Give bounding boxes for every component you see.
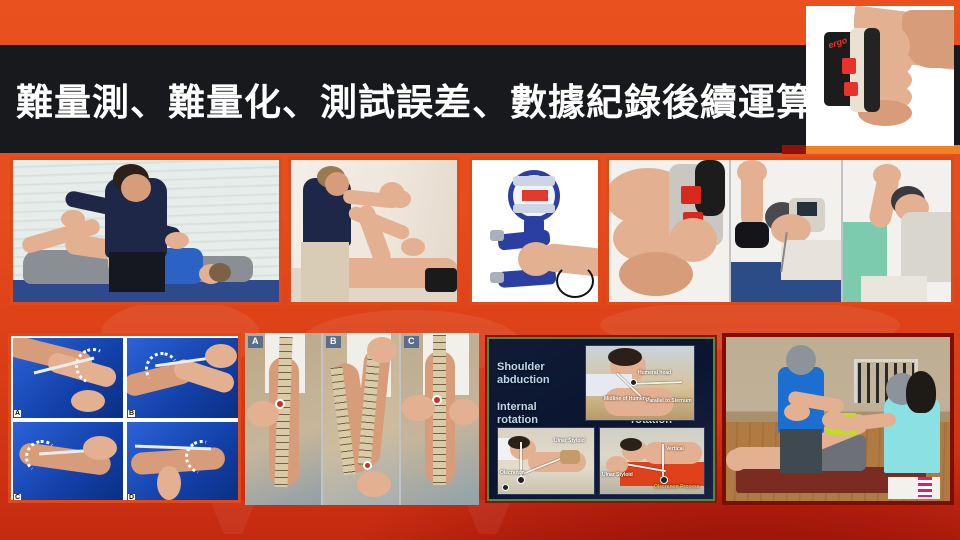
patient-hand — [560, 450, 580, 464]
panel-label-a: A — [248, 336, 263, 348]
panel-label-c: C — [404, 336, 419, 348]
goniometer-panel-d: D — [127, 422, 238, 500]
mini-photo-internal-rotation: Ulnar Styloid Olecranon — [497, 427, 595, 495]
annotation-midline-humerus: Midline of Humerus — [604, 396, 650, 402]
annotation-parallel-sternum: Parallel to Sternum — [646, 398, 692, 404]
watermark-shape — [210, 500, 256, 534]
examiner-shorts — [780, 429, 822, 473]
patient-shorts — [425, 268, 457, 292]
heading-shoulder-abduction: Shoulder abduction — [497, 361, 583, 386]
patient-hair — [608, 348, 642, 366]
mini-photo-external-rotation: Vertical Ulnar Styloid Olecranon Process — [599, 427, 705, 495]
annotation-vertical: Vertical — [666, 446, 684, 452]
goniometer-pivot — [363, 461, 372, 470]
examiner-hand — [247, 401, 279, 427]
dynamometer-panel-elbow — [843, 160, 951, 302]
goniometer-panel-b: B — [127, 338, 238, 418]
dynamometer-knob — [490, 272, 504, 283]
examiner-face-anonymized — [786, 345, 816, 375]
annotation-ulnar-styloid: Ulnar Styloid — [602, 472, 633, 478]
goniometer-protractor — [179, 434, 225, 480]
dial-bottom-band — [513, 204, 555, 213]
elbow-rom-panel-b: B — [323, 333, 401, 505]
ergo-dynamometer-photo: ergo — [806, 6, 954, 146]
device-display — [797, 202, 817, 216]
annotation-humeral-head: Humeral head — [638, 370, 671, 376]
assistant-pattern — [918, 477, 932, 497]
examiner-hand — [205, 344, 237, 368]
watermark-shape — [465, 500, 511, 534]
assistant-trousers — [888, 477, 940, 499]
goniometer-pivot — [630, 379, 637, 386]
shoulder-rotation-slide: Shoulder abduction Internal rotation Ext… — [485, 335, 717, 503]
therapist-hand — [165, 232, 189, 249]
annotation-olecranon: Olecranon — [500, 470, 525, 476]
goniometer-vertical-arm — [662, 444, 664, 480]
goniometer-grid: A B C D — [8, 333, 241, 503]
accent-strip-orange — [806, 145, 960, 154]
dynamometer-panel-grip — [609, 160, 731, 302]
hip-mobilization-photo — [10, 157, 282, 305]
goniometer-arm — [632, 381, 682, 385]
goniometer-pivot — [502, 484, 509, 491]
examiner-sleeve — [781, 240, 841, 280]
page-title: 難量測、難量化、測試誤差、數據紀錄後續運算 — [0, 72, 814, 126]
accent-chip-dark — [782, 145, 806, 154]
dial-top-band — [513, 176, 555, 186]
patient-hair — [209, 263, 231, 282]
examiner-hand — [669, 218, 717, 262]
annotation-ulnar-styloid: Ulnar Styloid — [554, 438, 585, 444]
examiner-hand — [784, 403, 810, 421]
examiner-hand — [71, 390, 105, 412]
goniometer-pivot — [517, 476, 525, 484]
therapist-hand — [389, 190, 411, 208]
annotation-olecranon-process: Olecranon Process — [654, 484, 700, 490]
goniometer-panel-a: A — [13, 338, 123, 418]
examiner-sleeve — [901, 212, 951, 282]
panel-label-b: B — [326, 336, 341, 348]
blue-dynamometer-photo — [469, 157, 601, 305]
mini-photo-abduction: Humeral head Midline of Humerus Parallel… — [585, 345, 695, 421]
panel-label-d: D — [128, 494, 135, 500]
goniometer-panel-c: C — [13, 422, 123, 500]
elbow-rom-panel-a: A — [245, 333, 323, 505]
device-button-red — [842, 58, 856, 74]
dynamometer-panel-forearm — [731, 160, 843, 302]
goniometer-protractor — [24, 439, 61, 476]
therapist-trousers — [301, 242, 349, 302]
device-button-red — [681, 186, 701, 204]
examiner-hand — [401, 395, 435, 421]
therapist-face — [121, 174, 151, 202]
patient-fist — [737, 160, 767, 184]
elbow-rom-strip: A B C — [245, 333, 479, 505]
shoulder-mobilization-photo — [288, 157, 460, 305]
dynamometer-display — [522, 190, 548, 201]
slide-background: Shoulder abduction Internal rotation Ext… — [489, 339, 713, 499]
plinth — [861, 276, 927, 302]
dynamometer-knob — [490, 230, 504, 241]
examiner-hand — [357, 471, 391, 497]
therapist-hand — [61, 210, 85, 228]
gym-hamstring-test-photo — [722, 333, 954, 505]
patient-hair — [508, 436, 530, 449]
patient-hair — [620, 438, 642, 451]
examiner-finger — [157, 466, 181, 500]
therapist-hand — [401, 238, 425, 256]
device-grip — [864, 28, 880, 112]
assistant-hand — [822, 411, 846, 429]
assistant-hair — [906, 371, 936, 413]
device-button-red — [844, 82, 858, 96]
patient-sleeve — [735, 222, 769, 248]
examiner-hand — [449, 399, 479, 425]
therapist-trousers — [109, 252, 165, 292]
goniometer-ruler — [433, 335, 446, 485]
elbow-rom-panel-c: C — [401, 333, 479, 505]
handheld-dynamometer-strip — [606, 157, 954, 305]
panel-label-b: B — [128, 410, 135, 417]
panel-label-a: A — [14, 410, 21, 417]
panel-label-c: C — [14, 494, 21, 500]
examiner-hand — [83, 436, 117, 460]
heading-internal-rotation: Internal rotation — [497, 401, 567, 426]
patient-fist — [873, 164, 901, 186]
subject-foot — [726, 449, 748, 471]
patient-hand — [367, 337, 397, 363]
cable-shape — [556, 264, 594, 298]
goniometer-pivot — [660, 476, 668, 484]
